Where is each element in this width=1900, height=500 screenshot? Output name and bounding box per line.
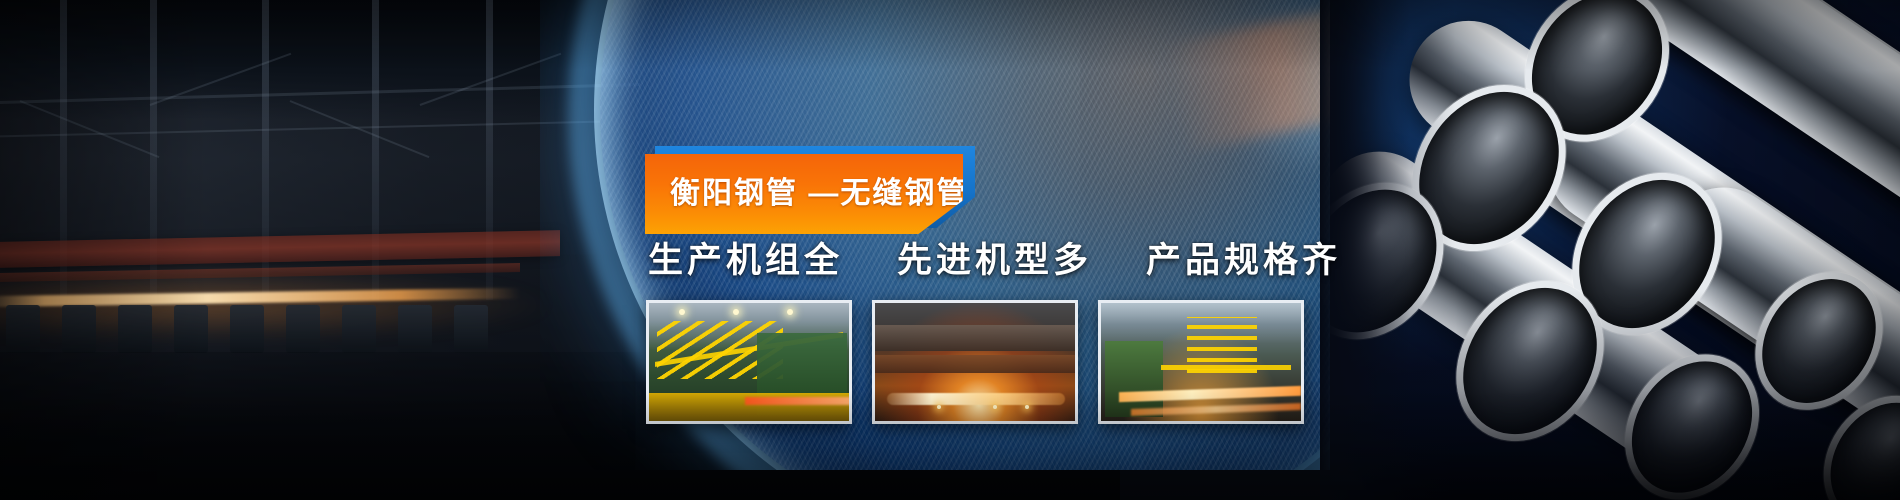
hot-bar-glow: [745, 397, 852, 405]
brand-tag-orange-plate: 衡阳钢管 —无缝钢管: [645, 154, 963, 234]
headline-item-3: 产品规格齐: [1146, 243, 1341, 278]
roller: [286, 305, 320, 353]
glowing-billet: [887, 393, 1065, 405]
thumbnail-hot-strip-mill[interactable]: [1098, 300, 1304, 424]
steel-pipes-photo: [1330, 0, 1900, 500]
thumbnail-hot-furnace-billet[interactable]: [872, 300, 1078, 424]
roller: [62, 305, 96, 353]
ceiling-lamp-icon: [679, 309, 685, 315]
red-gantry-beam: [0, 230, 560, 268]
thumbnail-rolling-mill-green-yellow[interactable]: [646, 300, 852, 424]
roller: [174, 305, 208, 353]
headline-item-2: 先进机型多: [897, 243, 1092, 278]
furnace-beam: [875, 325, 1075, 351]
ceiling-lamp-icon: [733, 309, 739, 315]
thumbnail-row: [646, 300, 1304, 424]
yellow-walkway: [1161, 365, 1291, 370]
hero-banner: 衡阳钢管 —无缝钢管 生产机组全 先进机型多 产品规格齐: [0, 0, 1900, 500]
roller: [454, 305, 488, 353]
roller: [118, 305, 152, 353]
brand-tag: 衡阳钢管 —无缝钢管: [645, 146, 975, 238]
spark: [1025, 405, 1029, 409]
spark: [937, 405, 941, 409]
roller: [342, 305, 376, 353]
headline-item-1: 生产机组全: [648, 243, 843, 278]
green-machine: [1105, 341, 1163, 417]
headline-group: 生产机组全 先进机型多 产品规格齐: [648, 243, 1341, 278]
roller: [6, 305, 40, 353]
spark: [993, 405, 997, 409]
roller: [230, 305, 264, 353]
roller: [398, 305, 432, 353]
furnace-beam-lower: [875, 355, 1075, 373]
ceiling-lamp-icon: [787, 309, 793, 315]
brand-tag-label: 衡阳钢管 —无缝钢管: [645, 179, 968, 209]
